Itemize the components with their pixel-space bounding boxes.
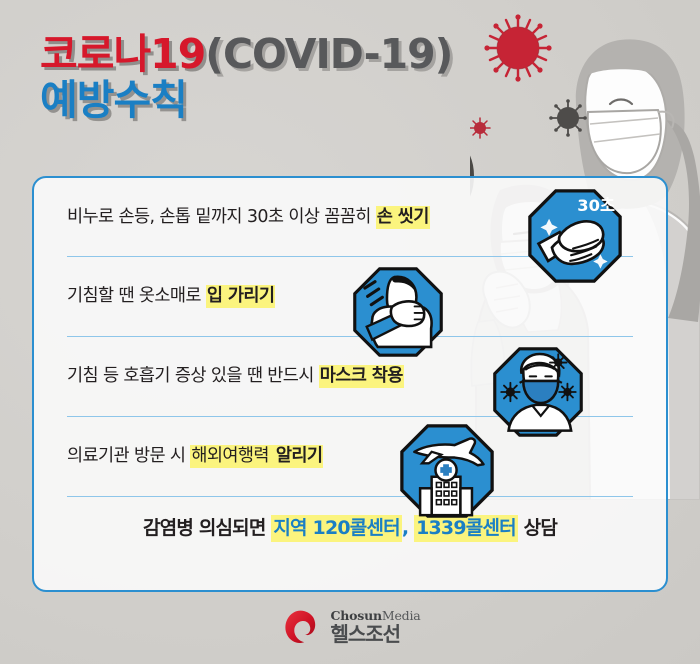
rule-keyword-highlight: 마스크 착용 [319,365,404,388]
rule-text-wear-mask: 기침 등 호흡기 증상 있을 땐 반드시 마스크 착용 [67,366,404,387]
callout-lead-text: 감염병 의심되면 [143,517,271,539]
rule-text-wash-hands: 비누로 손등, 손톱 밑까지 30초 이상 꼼꼼히 손 씻기 [67,207,430,228]
logo-wordmark: ChosunMedia 헬스조선 [330,609,420,644]
hospital-airplane-icon [399,423,495,519]
infographic-poster: 코로나19(COVID-19) 예방수칙 비누로 손등, 손톱 밑까지 30초 … [0,0,700,664]
cough-into-sleeve-icon [352,266,444,358]
poster-title: 코로나19(COVID-19) 예방수칙 [40,34,510,120]
hand-wash-duration-badge: 30초 [577,196,615,215]
rule-keyword-highlight: 손 씻기 [376,206,430,229]
title-prevention-rules: 예방수칙 [40,76,187,124]
callout-hotline-local: 지역 120콜센터 [271,515,401,542]
callout-tail-text: 상담 [518,517,557,539]
logo-brand-korean: 헬스조선 [330,624,420,645]
callout-comma: , [402,517,408,539]
virus-particle-small [470,118,490,138]
prevention-rules-panel: 비누로 손등, 손톱 밑까지 30초 이상 꼼꼼히 손 씻기 기침할 땐 옷소매… [32,176,668,592]
rule-text-cover-mouth: 기침할 땐 옷소매로 입 가리기 [67,286,275,307]
rule-plain-text: 기침 등 호흡기 증상 있을 땐 반드시 [67,366,319,386]
rule-plain-text: 비누로 손등, 손톱 밑까지 30초 이상 꼼꼼히 [67,207,376,227]
face-mask-icon [492,346,584,438]
rule-plain-text: 의료기관 방문 시 [67,446,190,466]
rule-subkeyword-highlight: 해외여행력 [190,445,274,468]
callout-hotline-1339: 1339콜센터 [414,515,518,542]
rule-text-report-travel: 의료기관 방문 시 해외여행력 알리기 [67,446,323,467]
footer-logo: ChosunMedia 헬스조선 [0,606,700,648]
title-korean-covid: 코로나19 [40,30,205,78]
hand-washing-icon: 30초 [527,188,623,284]
rule-keyword-highlight: 입 가리기 [206,285,276,308]
virus-particle-dark [549,99,587,137]
rule-plain-text: 기침할 땐 옷소매로 [67,286,206,306]
chosun-media-logo-icon [279,606,321,648]
emergency-callout: 감염병 의심되면 지역 120콜센터, 1339콜센터 상담 [34,513,666,540]
rule-keyword-highlight: 알리기 [275,445,324,468]
title-english-covid: (COVID-19) [205,30,452,78]
